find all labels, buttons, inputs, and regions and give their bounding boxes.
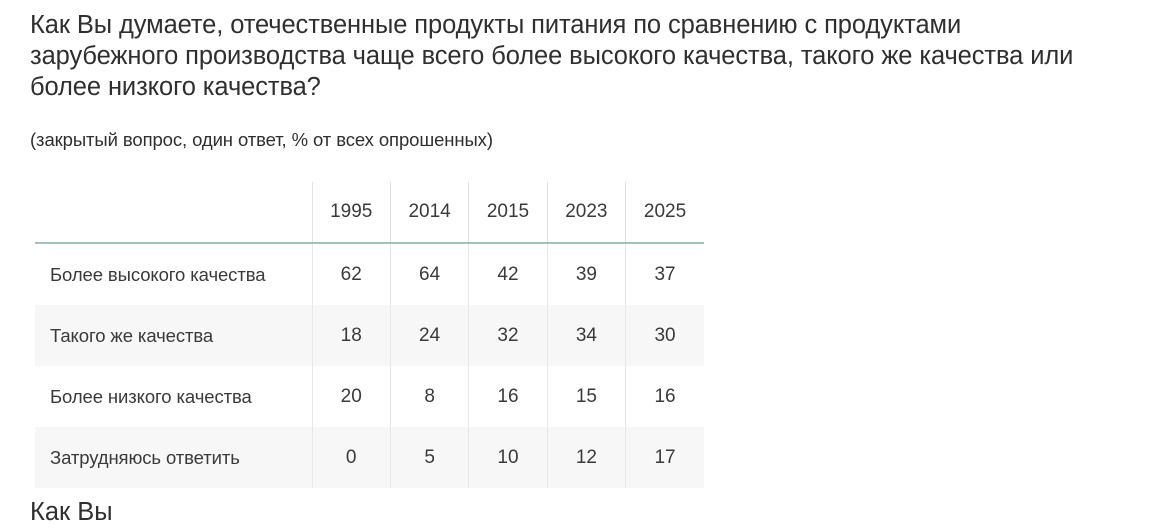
table-cell: 20 xyxy=(312,366,390,427)
column-header-2015: 2015 xyxy=(469,182,547,243)
row-label: Более низкого качества xyxy=(35,366,312,427)
table-cell: 17 xyxy=(626,427,704,488)
table-cell: 32 xyxy=(469,305,547,366)
table-cell: 15 xyxy=(547,366,625,427)
row-label: Затрудняюсь ответить xyxy=(35,427,312,488)
table-corner-cell xyxy=(35,182,312,243)
results-table-container: 1995 2014 2015 2023 2025 Более высокого … xyxy=(35,182,704,488)
row-label: Такого же качества xyxy=(35,305,312,366)
table-cell: 0 xyxy=(312,427,390,488)
table-row: Такого же качества 18 24 32 34 30 xyxy=(35,305,704,366)
table-cell: 24 xyxy=(390,305,468,366)
column-header-2025: 2025 xyxy=(626,182,704,243)
question-note: (закрытый вопрос, один ответ, % от всех … xyxy=(30,128,930,152)
results-table: 1995 2014 2015 2023 2025 Более высокого … xyxy=(35,182,704,488)
column-header-2014: 2014 xyxy=(390,182,468,243)
table-cell: 30 xyxy=(626,305,704,366)
table-body: Более высокого качества 62 64 42 39 37 Т… xyxy=(35,243,704,488)
table-cell: 5 xyxy=(390,427,468,488)
table-header: 1995 2014 2015 2023 2025 xyxy=(35,182,704,243)
table-cell: 64 xyxy=(390,243,468,305)
table-cell: 16 xyxy=(626,366,704,427)
table-cell: 12 xyxy=(547,427,625,488)
table-cell: 8 xyxy=(390,366,468,427)
table-row: Затрудняюсь ответить 0 5 10 12 17 xyxy=(35,427,704,488)
table-cell: 18 xyxy=(312,305,390,366)
table-cell: 39 xyxy=(547,243,625,305)
table-row: Более низкого качества 20 8 16 15 16 xyxy=(35,366,704,427)
table-row: Более высокого качества 62 64 42 39 37 xyxy=(35,243,704,305)
column-header-1995: 1995 xyxy=(312,182,390,243)
row-label: Более высокого качества xyxy=(35,243,312,305)
table-cell: 10 xyxy=(469,427,547,488)
poll-table-page: Как Вы думаете, отечественные продукты п… xyxy=(0,0,1176,509)
table-cell: 16 xyxy=(469,366,547,427)
table-cell: 42 xyxy=(469,243,547,305)
next-question-title-partial: Как Вы xyxy=(30,497,1030,528)
table-cell: 37 xyxy=(626,243,704,305)
page-title: Как Вы думаете, отечественные продукты п… xyxy=(30,10,1100,103)
column-header-2023: 2023 xyxy=(547,182,625,243)
table-header-row: 1995 2014 2015 2023 2025 xyxy=(35,182,704,243)
table-cell: 34 xyxy=(547,305,625,366)
table-cell: 62 xyxy=(312,243,390,305)
